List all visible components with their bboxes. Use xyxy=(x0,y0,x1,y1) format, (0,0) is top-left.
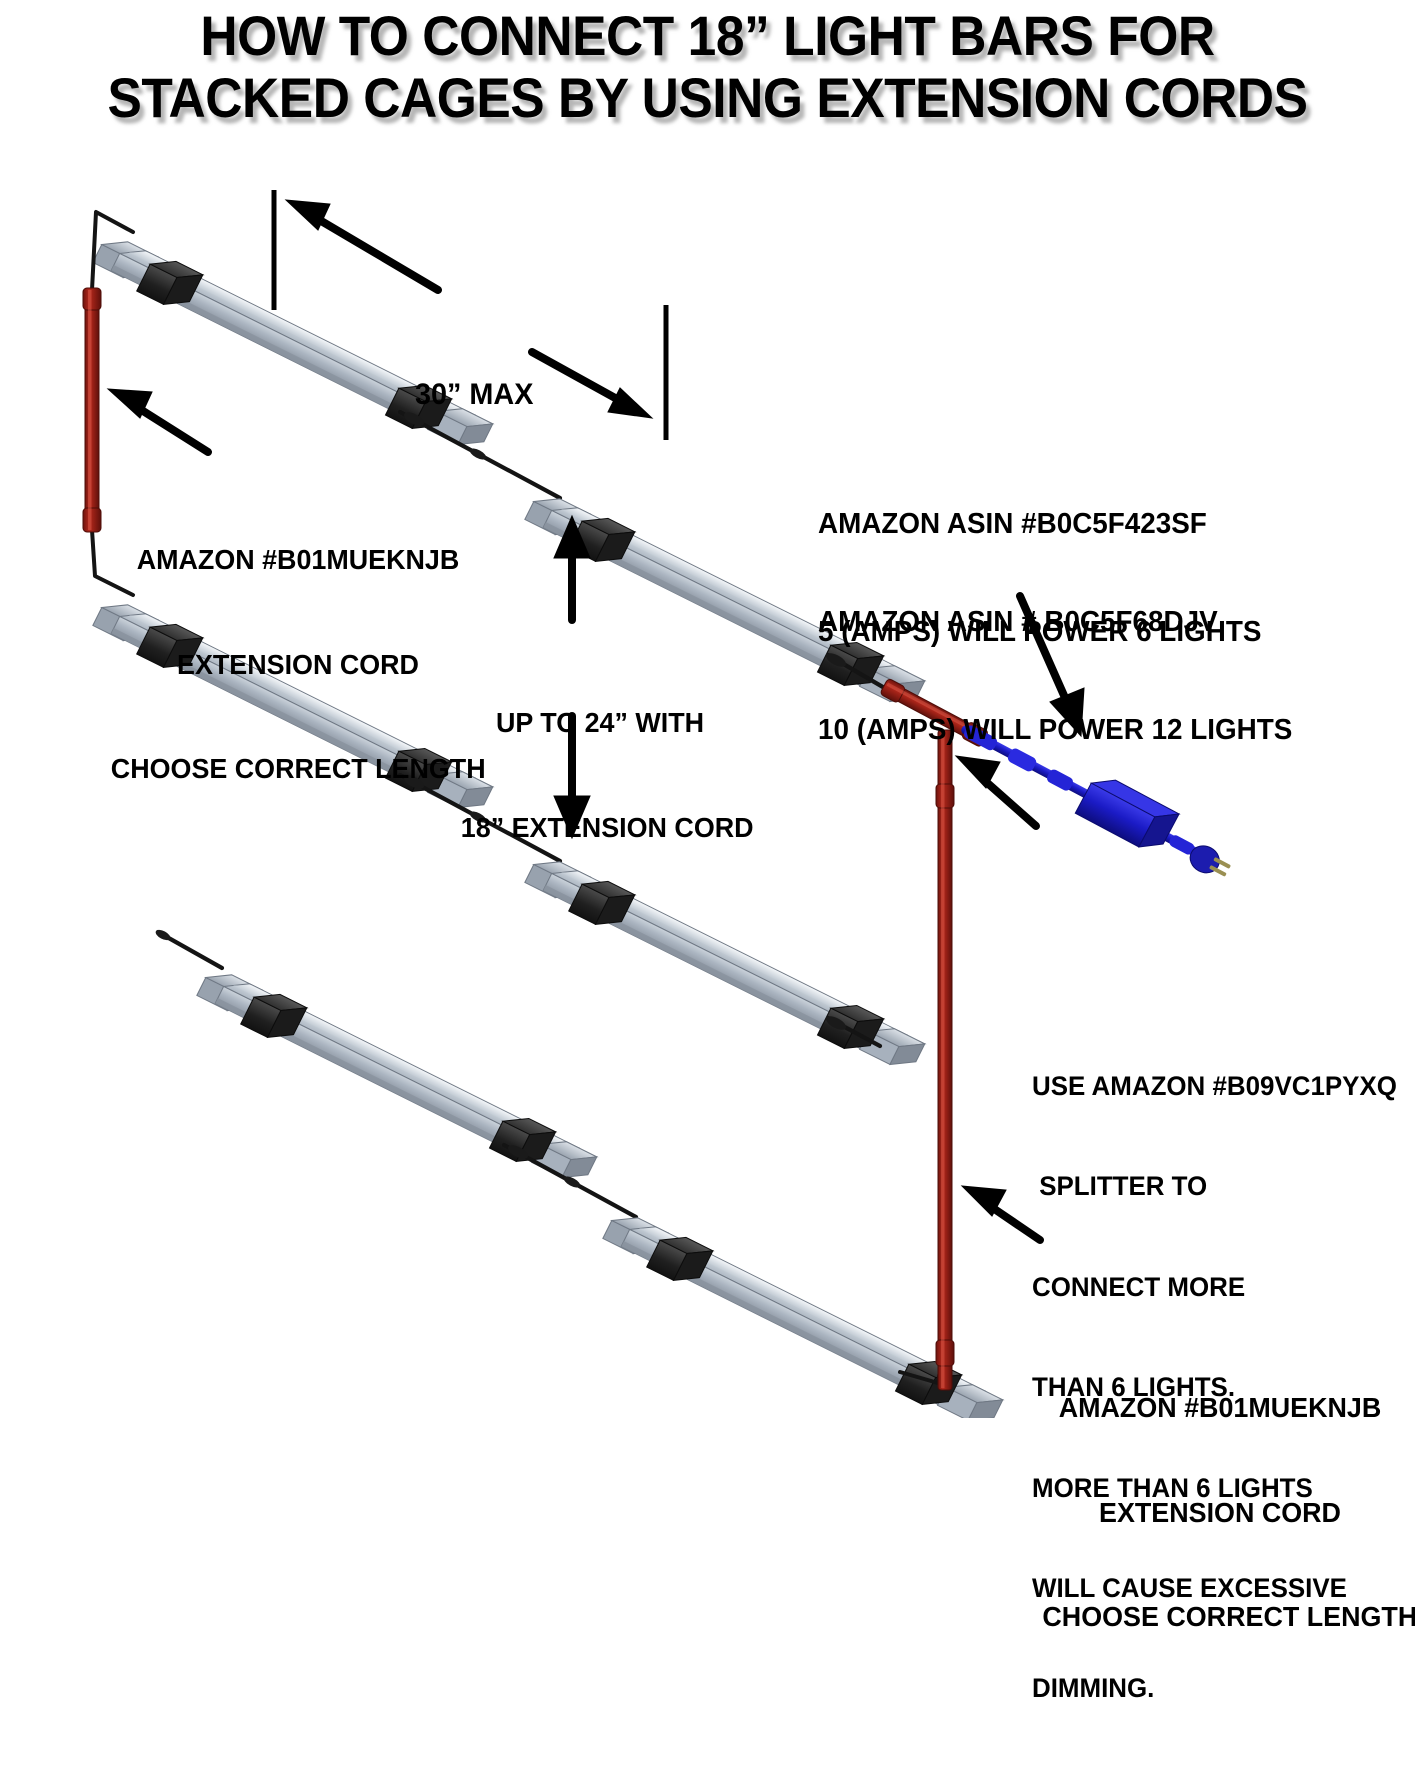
callout-line: AMAZON #B01MUEKNJB xyxy=(1042,1391,1397,1426)
callout-right-extension-cord: AMAZON #B01MUEKNJB EXTENSION CORD CHOOSE… xyxy=(1042,1322,1397,1704)
callout-line: AMAZON #B01MUEKNJB xyxy=(111,543,485,578)
callout-line: 10 (AMPS) WILL POWER 12 LIGHTS xyxy=(818,713,1292,749)
callout-line: EXTENSION CORD xyxy=(1042,1496,1397,1531)
light-bar xyxy=(194,961,598,1192)
leader-arrow-right-cord xyxy=(962,1186,1040,1240)
leader-arrow-left-cord xyxy=(108,389,208,452)
callout-line: CONNECT MORE xyxy=(1032,1271,1397,1304)
extension-cord-left xyxy=(83,288,101,532)
callout-line: SPLITTER TO xyxy=(1032,1170,1397,1203)
callout-max-span: 30” MAX xyxy=(415,302,533,488)
callout-left-extension-cord: AMAZON #B01MUEKNJB EXTENSION CORD CHOOSE… xyxy=(111,474,485,856)
callout-line: AMAZON ASIN # B0C5F68DJV xyxy=(818,605,1292,641)
diagram-canvas: HOW TO CONNECT 18” LIGHT BARS FOR STACKE… xyxy=(0,0,1415,1418)
callout-line: CHOOSE CORRECT LENGTH xyxy=(111,752,485,787)
callout-extension-span: UP TO 24” WITH 18” EXTENSION CORD xyxy=(461,637,739,915)
callout-line: 30” MAX xyxy=(415,376,533,413)
callout-line: UP TO 24” WITH xyxy=(461,706,739,741)
callout-line: EXTENSION CORD xyxy=(111,648,485,683)
light-bar-row-3 xyxy=(154,928,1005,1418)
callout-line: CHOOSE CORRECT LENGTH xyxy=(1042,1600,1397,1635)
callout-line: 18” EXTENSION CORD xyxy=(461,811,739,846)
callout-asin-10amp: AMAZON ASIN # B0C5F68DJV 10 (AMPS) WILL … xyxy=(818,533,1292,821)
callout-line: USE AMAZON #B09VC1PYXQ xyxy=(1032,1070,1397,1103)
lead-wire xyxy=(154,928,222,968)
